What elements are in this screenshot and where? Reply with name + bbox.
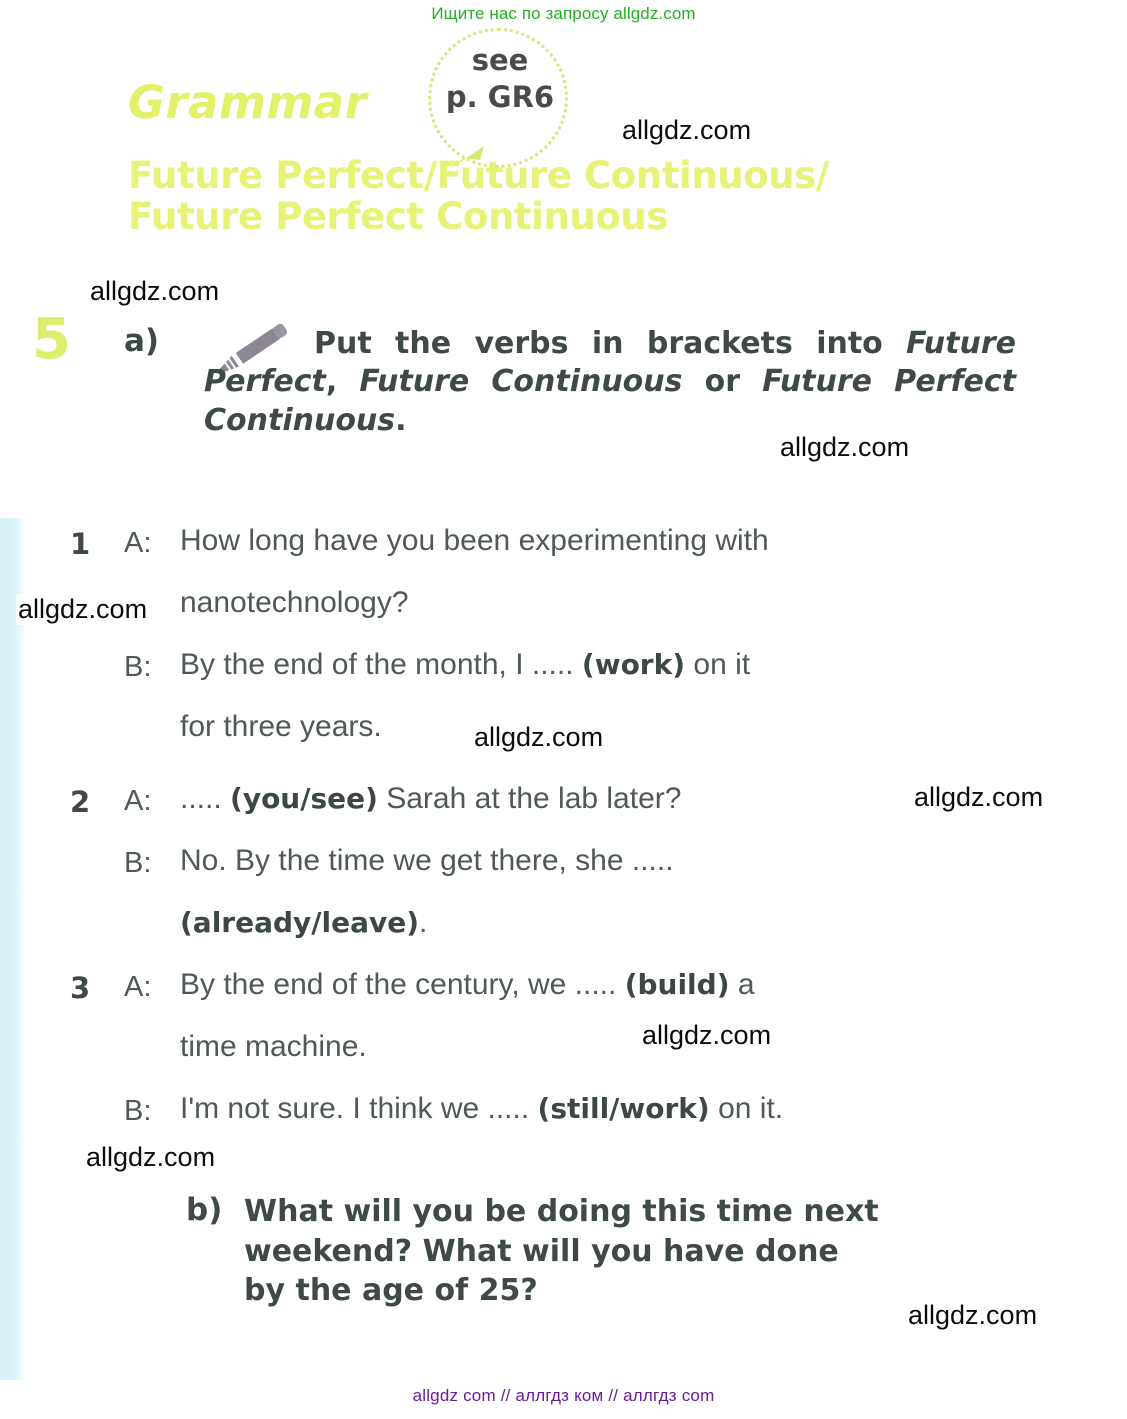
part-a-label: a) [124, 326, 159, 357]
speaker-label: B: [124, 1095, 151, 1128]
exercise-number: 5 [32, 312, 71, 368]
callout-line-2: p. GR6 [436, 79, 564, 116]
rubric-text: Put the verbs in brackets into Future Pe… [204, 326, 1016, 438]
dialogue-line: time machine. [180, 1030, 367, 1064]
part-b-label: b) [186, 1192, 222, 1228]
dialogue-line: By the end of the month, I ..... (work) … [180, 648, 750, 682]
worksheet-page: Ищите нас по запросу allgdz.com Grammar … [0, 0, 1127, 1419]
speaker-label: A: [124, 527, 151, 560]
watermark: allgdz.com [88, 276, 221, 307]
watermark: allgdz.com [906, 1300, 1039, 1331]
part-b-line-3: by the age of 25? [244, 1271, 1016, 1311]
item-number: 3 [70, 971, 90, 1005]
heading-subtitle: Future Perfect/Future Continuous/ Future… [128, 155, 1048, 238]
dialogue-line: ..... (you/see) Sarah at the lab later? [180, 782, 681, 816]
heading-subtitle-line-1: Future Perfect/Future Continuous/ [128, 155, 1048, 196]
exercise-rubric: Put the verbs in brackets into Future Pe… [204, 325, 1016, 440]
grammar-heading: Grammar Future Perfect/Future Continuous… [128, 80, 1048, 238]
dialogue-line: By the end of the century, we ..... (bui… [180, 968, 755, 1002]
speaker-label: A: [124, 785, 151, 818]
speaker-label: B: [124, 651, 151, 684]
item-number: 1 [70, 527, 90, 561]
watermark: allgdz.com [778, 432, 911, 463]
part-b-line-1: What will you be doing this time next [244, 1192, 1016, 1232]
part-b-question: What will you be doing this time next we… [244, 1192, 1016, 1311]
watermark: allgdz.com [640, 1020, 773, 1051]
dialogue-line: nanotechnology? [180, 586, 409, 620]
speaker-label: B: [124, 847, 151, 880]
page-edge-strip [0, 518, 26, 1380]
dialogue-line: I'm not sure. I think we ..... (still/wo… [180, 1092, 783, 1126]
watermark: allgdz.com [620, 115, 753, 146]
speaker-label: A: [124, 971, 151, 1004]
heading-grammar-word: Grammar [128, 80, 367, 125]
heading-subtitle-line-2: Future Perfect Continuous [128, 196, 1048, 237]
watermark: allgdz.com [472, 722, 605, 753]
watermark: allgdz.com [84, 1142, 217, 1173]
dialogue-line: How long have you been experimenting wit… [180, 524, 769, 558]
watermark: allgdz.com [912, 782, 1045, 813]
dialogue-line: (already/leave). [180, 906, 427, 940]
dialogue-line: for three years. [180, 710, 382, 744]
watermark: allgdz.com [16, 594, 149, 625]
site-banner: Ищите нас по запросу allgdz.com [0, 4, 1127, 24]
site-footer: allgdz com // аллгдз ком // аллгдз com [0, 1386, 1127, 1406]
dialogue-line: No. By the time we get there, she ..... [180, 844, 674, 878]
callout-line-1: see [436, 42, 564, 79]
see-reference-callout: see p. GR6 [428, 28, 576, 176]
item-number: 2 [70, 785, 90, 819]
callout-text: see p. GR6 [436, 42, 564, 115]
part-b-line-2: weekend? What will you have done [244, 1232, 1016, 1272]
